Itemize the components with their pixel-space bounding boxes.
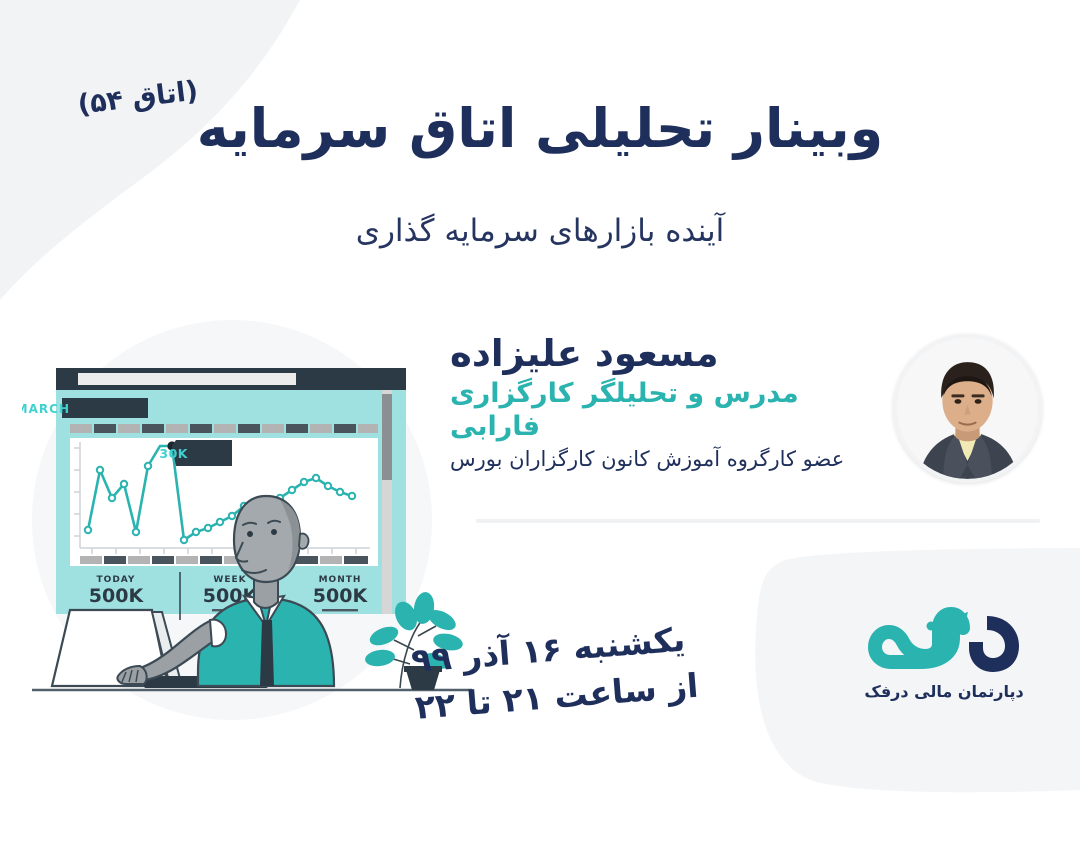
stat-week-label: WEEK xyxy=(213,575,246,585)
stat-month-value: 500K xyxy=(313,585,369,607)
portrait-photo xyxy=(897,338,1038,479)
speaker-info: مسعود علیزاده مدرس و تحلیلگر کارگزاری فا… xyxy=(450,333,880,472)
speaker-avatar xyxy=(893,334,1042,483)
chart-tooltip-value: 30K xyxy=(159,446,188,461)
poster-canvas: وبینار تحلیلی اتاق سرمایه (اتاق ۵۴) آیند… xyxy=(0,0,1080,853)
speaker-organization: عضو کارگروه آموزش کانون کارگزاران بورس xyxy=(450,446,880,472)
dashboard-screen: MARCH xyxy=(22,368,406,620)
brand-logo: دپارتمان مالی درفک xyxy=(844,598,1044,701)
segment-bar-bottom xyxy=(80,556,368,564)
section-divider xyxy=(476,519,1040,523)
month-badge-bg xyxy=(62,398,148,418)
stat-today-value: 500K xyxy=(89,585,145,607)
logo-caption: دپارتمان مالی درفک xyxy=(844,682,1044,701)
month-badge-label: MARCH xyxy=(22,402,70,416)
stat-month-label: MONTH xyxy=(319,575,362,585)
logo-mark-icon xyxy=(859,598,1029,680)
speaker-role: مدرس و تحلیلگر کارگزاری فارابی xyxy=(450,378,880,443)
page-subtitle: آینده بازارهای سرمایه گذاری xyxy=(0,213,1080,249)
speaker-name: مسعود علیزاده xyxy=(450,333,880,374)
stat-today-label: TODAY xyxy=(97,575,136,585)
stat-month: MONTH 500K xyxy=(313,575,369,611)
